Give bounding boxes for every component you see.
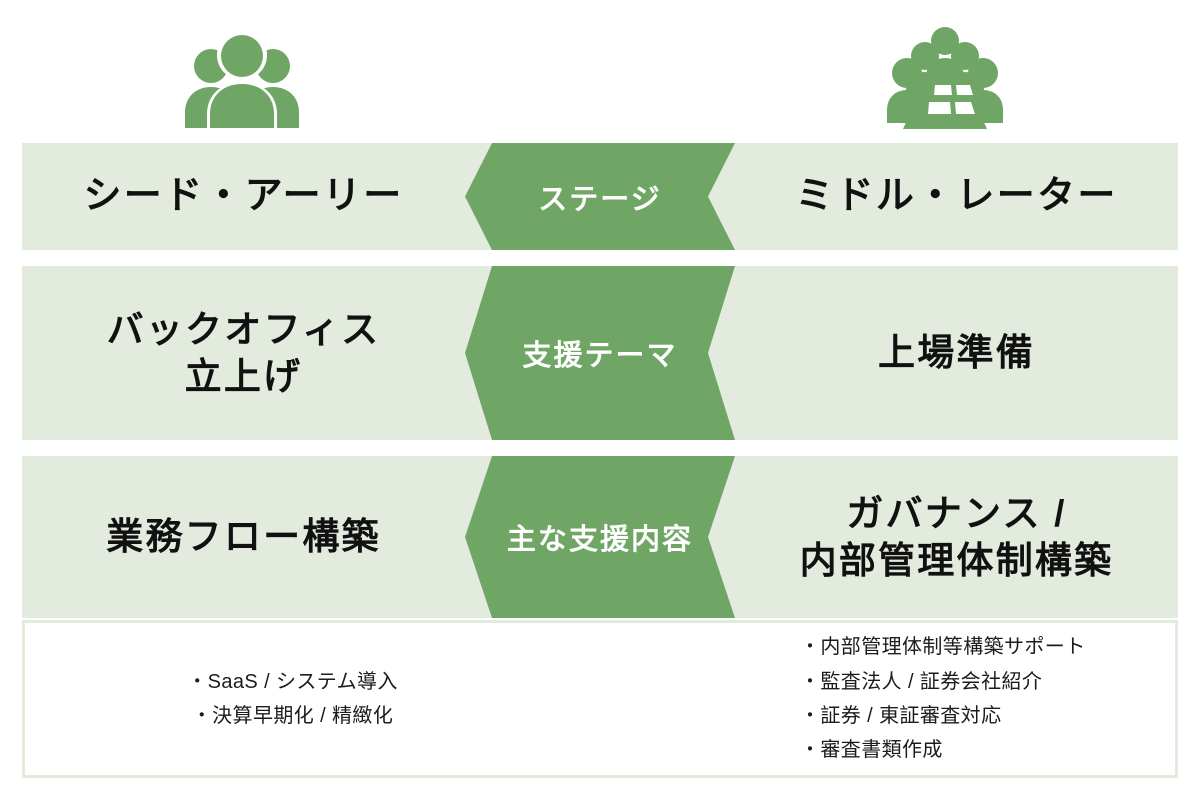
team-people-icon bbox=[177, 24, 307, 136]
list-item: ・決算早期化 / 精緻化 bbox=[192, 699, 393, 733]
list-item: ・審査書類作成 bbox=[800, 733, 943, 767]
row-theme-right-label: 上場準備 bbox=[735, 329, 1178, 376]
detail-panel: ・SaaS / システム導入 ・決算早期化 / 精緻化 ・内部管理体制等構築サポ… bbox=[22, 620, 1178, 778]
row-theme-badge-label: 支援テーマ bbox=[522, 332, 677, 374]
row-stage: シード・アーリー ステージ ミドル・レーター bbox=[22, 143, 1178, 250]
row-support-content: 業務フロー構築 主な支援内容 ガバナンス / 内部管理体制構築 bbox=[22, 456, 1178, 618]
row-theme: バックオフィス 立上げ 支援テーマ 上場準備 bbox=[22, 266, 1178, 440]
list-item: ・内部管理体制等構築サポート bbox=[800, 630, 1086, 664]
row-stage-badge-label: ステージ bbox=[538, 176, 662, 218]
row-content-left-label: 業務フロー構築 bbox=[22, 513, 465, 560]
row-theme-badge: 支援テーマ bbox=[465, 266, 735, 440]
list-item: ・監査法人 / 証券会社紹介 bbox=[800, 665, 1042, 699]
row-content-right-label: ガバナンス / 内部管理体制構築 bbox=[735, 490, 1178, 585]
row-stage-right-label: ミドル・レーター bbox=[735, 172, 1178, 221]
boardroom-meeting-icon bbox=[880, 24, 1010, 136]
stage-support-infographic: シード・アーリー ステージ ミドル・レーター バックオフィス 立上げ 支援テーマ… bbox=[0, 0, 1200, 800]
row-stage-left-label: シード・アーリー bbox=[22, 172, 465, 221]
detail-list-right: ・内部管理体制等構築サポート ・監査法人 / 証券会社紹介 ・証券 / 東証審査… bbox=[600, 623, 1175, 775]
list-item: ・SaaS / システム導入 bbox=[187, 665, 398, 699]
row-stage-badge: ステージ bbox=[465, 143, 735, 250]
detail-list-left: ・SaaS / システム導入 ・決算早期化 / 精緻化 bbox=[25, 623, 600, 775]
list-item: ・証券 / 東証審査対応 bbox=[800, 699, 1001, 733]
icon-header-row bbox=[22, 16, 1178, 138]
row-content-badge: 主な支援内容 bbox=[465, 456, 735, 618]
row-theme-left-label: バックオフィス 立上げ bbox=[22, 306, 465, 401]
row-content-badge-label: 主な支援内容 bbox=[507, 516, 693, 558]
